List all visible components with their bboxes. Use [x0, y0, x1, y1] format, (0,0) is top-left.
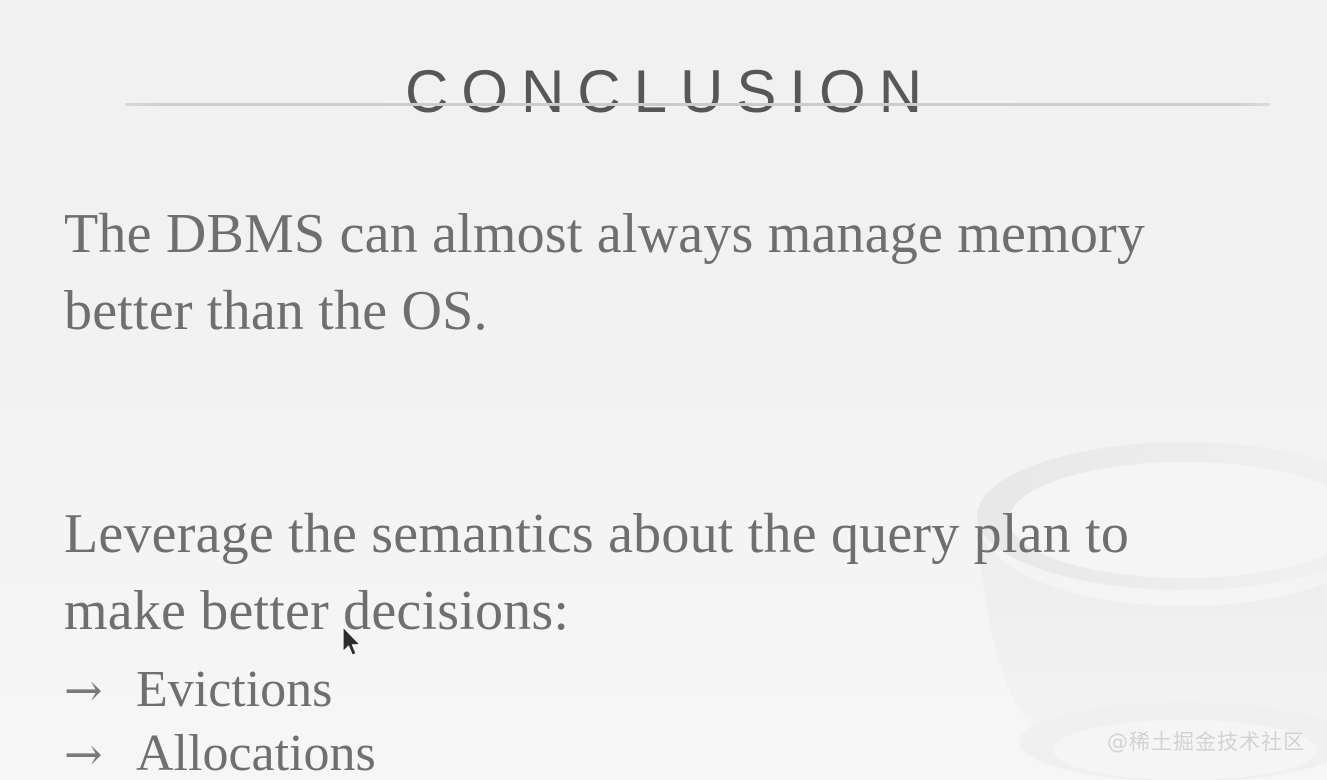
arrow-right-icon: → — [64, 658, 136, 722]
title-divider — [125, 103, 1270, 106]
list-item-label: Allocations — [136, 722, 376, 780]
body-paragraph-1: The DBMS can almost always manage memory… — [64, 196, 1249, 350]
presentation-slide: CONCLUSION The DBMS can almost always ma… — [0, 0, 1327, 780]
body-paragraph-2: Leverage the semantics about the query p… — [64, 496, 1249, 650]
page-title: CONCLUSION — [0, 54, 1327, 130]
list-item: → Allocations — [64, 722, 1267, 780]
list-item-label: Evictions — [136, 658, 332, 722]
list-item: → Evictions — [64, 658, 1267, 722]
slide-body: The DBMS can almost always manage memory… — [64, 196, 1267, 780]
arrow-right-icon: → — [64, 722, 136, 780]
bullet-list: → Evictions → Allocations → Pre-fetching — [64, 658, 1267, 780]
